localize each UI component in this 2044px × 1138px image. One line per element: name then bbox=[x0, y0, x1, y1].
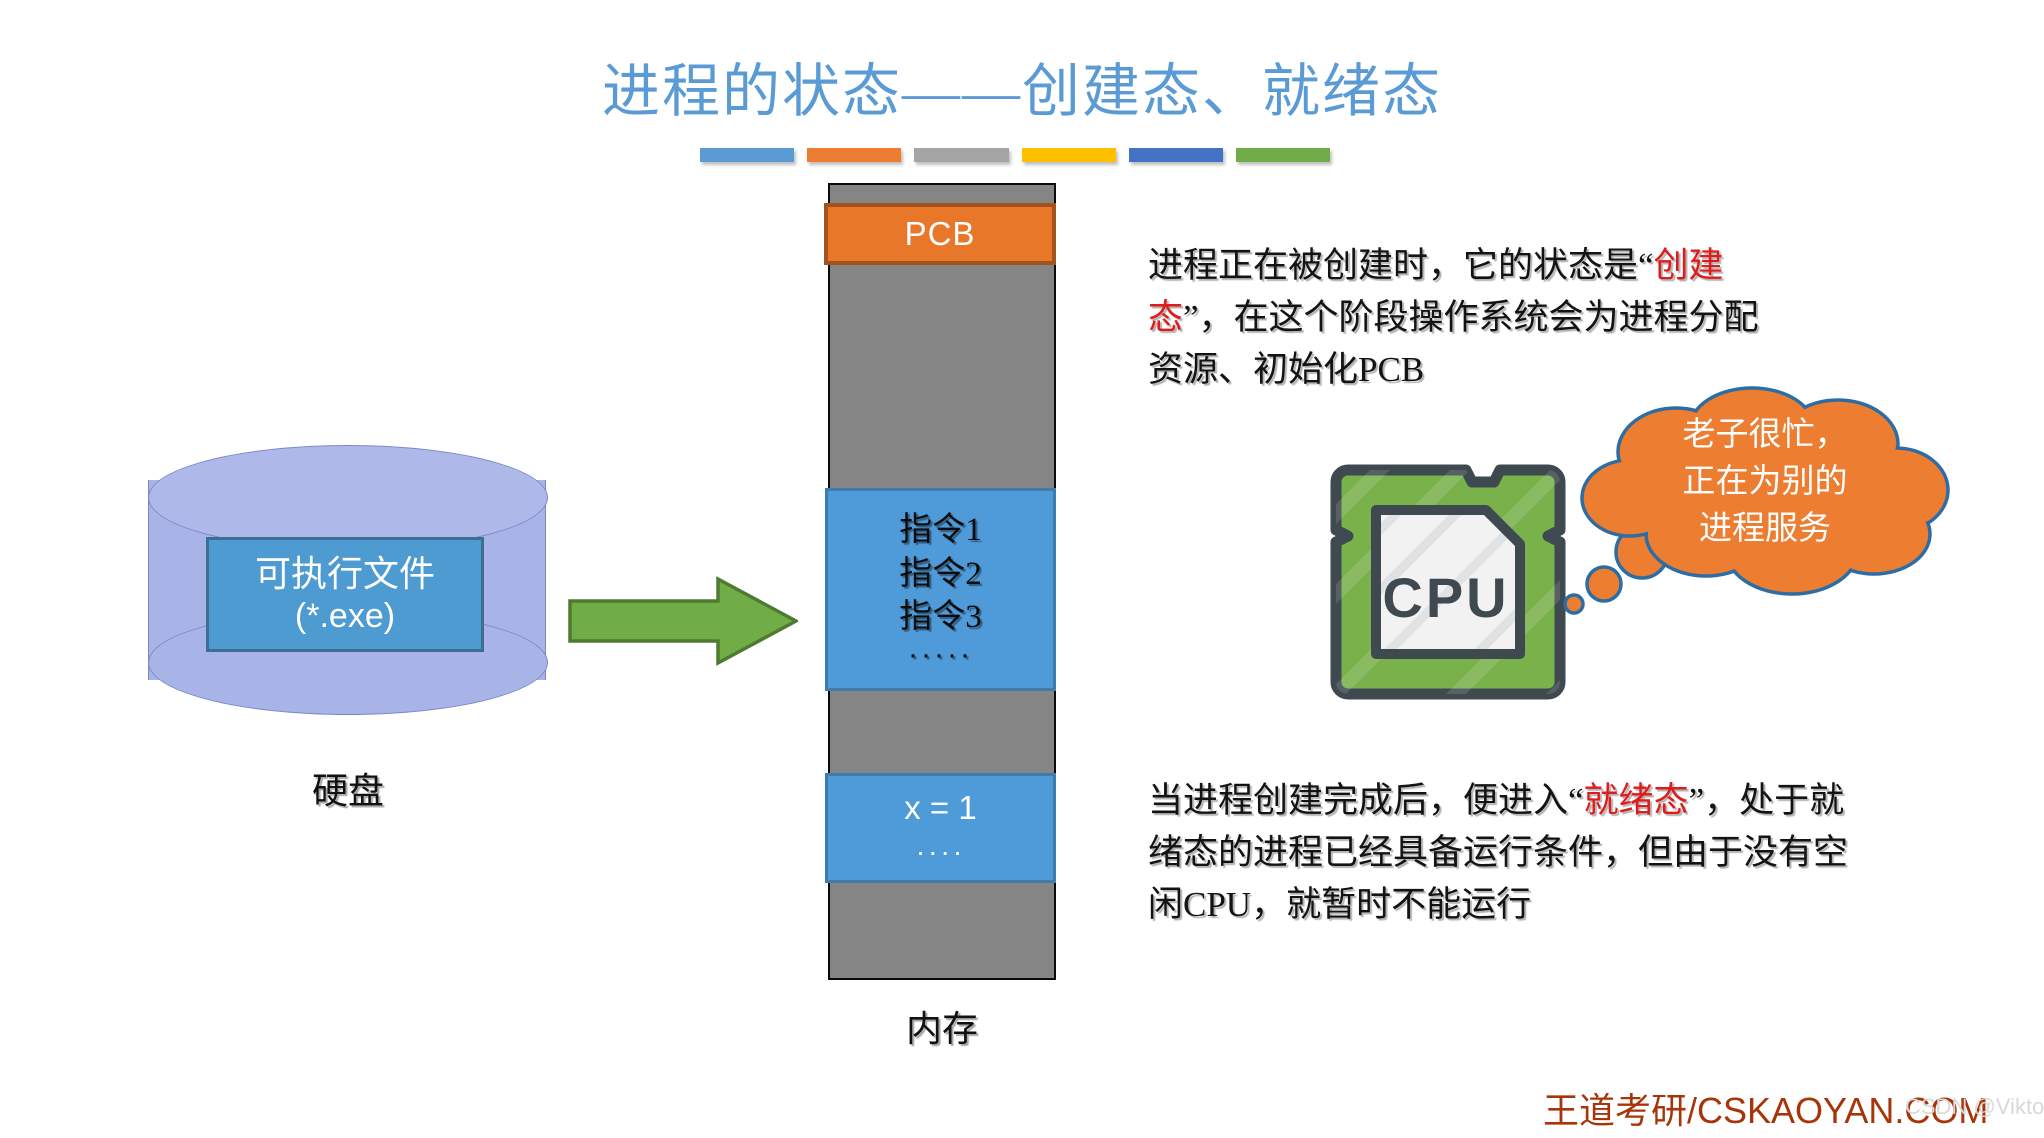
cpu-text-label: CPU bbox=[1382, 566, 1509, 629]
instruction-ellipsis: ····· bbox=[908, 640, 973, 670]
thought-bubble bbox=[1556, 382, 1956, 622]
accent-bar-dark-blue bbox=[1129, 148, 1223, 162]
memory-block-instructions: 指令1 指令2 指令3 ····· bbox=[825, 488, 1056, 691]
page-title: 进程的状态——创建态、就绪态 bbox=[0, 44, 2044, 128]
memory-block-pcb: PCB bbox=[824, 203, 1056, 265]
accent-bar-yellow bbox=[1022, 148, 1116, 162]
accent-bar-light-blue bbox=[700, 148, 794, 162]
memory-block-data: x = 1 ···· bbox=[825, 773, 1056, 883]
note-create-part2: ”，在这个阶段操作系统会为进程分配资源、初始化PCB bbox=[1148, 298, 1759, 389]
load-into-memory-arrow bbox=[568, 575, 798, 667]
note-ready-highlight: 就绪态 bbox=[1584, 781, 1689, 820]
instruction-line-1: 指令1 bbox=[899, 509, 982, 553]
data-ellipsis: ···· bbox=[916, 832, 965, 871]
hard-disk-label: 硬盘 bbox=[148, 762, 548, 814]
note-ready-part1: 当进程创建完成后，便进入“ bbox=[1148, 781, 1584, 820]
memory-column-group: PCB 指令1 指令2 指令3 ····· x = 1 ···· bbox=[828, 183, 1056, 980]
note-create-part1: 进程正在被创建时，它的状态是“ bbox=[1148, 246, 1654, 285]
note-create-state: 进程正在被创建时，它的状态是“创建态”，在这个阶段操作系统会为进程分配资源、初始… bbox=[1148, 240, 1788, 395]
instruction-line-3: 指令3 bbox=[899, 596, 982, 640]
executable-file-box: 可执行文件 (*.exe) bbox=[206, 537, 484, 652]
accent-bar-green bbox=[1236, 148, 1330, 162]
executable-file-name: 可执行文件 bbox=[255, 553, 435, 595]
cpu-chip-icon: CPU bbox=[1318, 452, 1578, 712]
memory-label: 内存 bbox=[828, 1000, 1056, 1052]
footer-watermark: CSDN @Viktoriae bbox=[1905, 1094, 2044, 1120]
note-ready-state: 当进程创建完成后，便进入“就绪态”，处于就绪态的进程已经具备运行条件，但由于没有… bbox=[1148, 775, 1868, 930]
instruction-line-2: 指令2 bbox=[899, 553, 982, 597]
data-variable-line: x = 1 bbox=[904, 785, 976, 831]
pcb-label: PCB bbox=[905, 215, 976, 253]
executable-file-extension: (*.exe) bbox=[295, 596, 395, 636]
accent-bar-orange bbox=[807, 148, 901, 162]
disk-cylinder-top bbox=[148, 445, 548, 550]
accent-bar-gray bbox=[914, 148, 1008, 162]
hard-disk-cylinder: 可执行文件 (*.exe) bbox=[148, 445, 548, 715]
title-accent-bars bbox=[700, 148, 1330, 164]
